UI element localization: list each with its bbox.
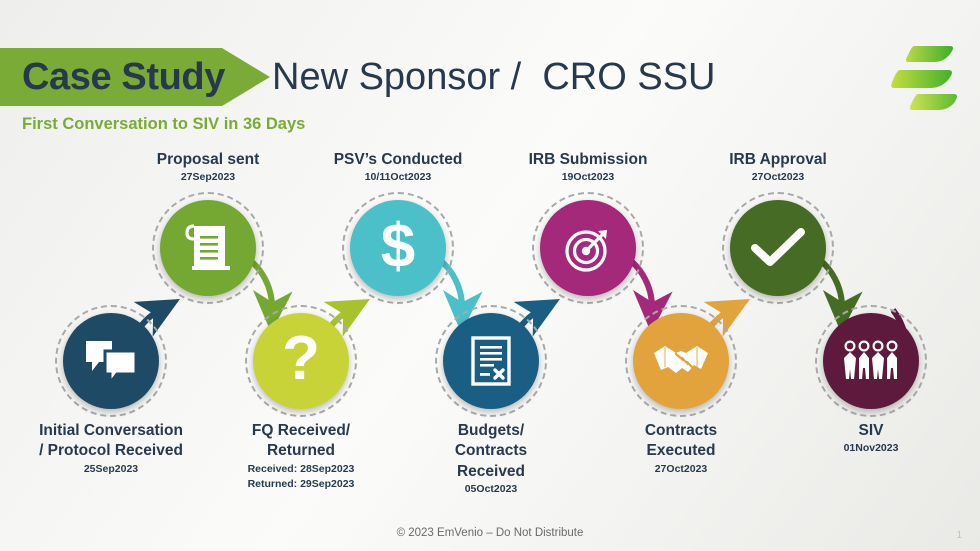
- footer-copyright: © 2023 EmVenio – Do Not Distribute: [0, 527, 980, 539]
- node-disc: [540, 200, 636, 296]
- step-title-line1: Initial Conversation: [6, 421, 216, 441]
- node-disc: [730, 200, 826, 296]
- timeline-node-proposal-sent[interactable]: [152, 192, 264, 304]
- timeline-node-fq-received-returned[interactable]: ?: [245, 305, 357, 417]
- step-title-line2: Returned: [211, 441, 391, 461]
- speech-bubbles-icon: [83, 338, 139, 384]
- step-title-line1: Contracts: [601, 421, 761, 441]
- step-title-line1: FQ Received/: [211, 421, 391, 441]
- step-date: 27Oct2023: [601, 463, 761, 477]
- label-proposal-sent: Proposal sent 27Sep2023: [118, 150, 298, 185]
- step-date: 25Sep2023: [6, 463, 216, 477]
- node-disc: [823, 313, 919, 409]
- step-date: 27Sep2023: [118, 171, 298, 185]
- question-mark-icon: ?: [282, 328, 320, 390]
- step-title-line1: SIV: [791, 421, 951, 441]
- people-group-icon: [842, 339, 900, 383]
- node-disc: [63, 313, 159, 409]
- label-psv-conducted: PSV’s Conducted 10/11Oct2023: [298, 150, 498, 185]
- step-title-line2: Contracts: [411, 441, 571, 461]
- timeline-node-contracts-executed[interactable]: [625, 305, 737, 417]
- target-arrow-icon: [562, 222, 614, 274]
- timeline-node-irb-submission[interactable]: [532, 192, 644, 304]
- step-date-received: Received: 28Sep2023: [211, 463, 391, 477]
- step-date: 05Oct2023: [411, 483, 571, 497]
- step-title-line2: / Protocol Received: [6, 441, 216, 461]
- slide-canvas: Case Study New Sponsor / CRO SSU First C…: [0, 0, 980, 551]
- step-title-line1: Budgets/: [411, 421, 571, 441]
- step-date: 01Nov2023: [791, 442, 951, 456]
- label-fq-received-returned: FQ Received/ Returned Received: 28Sep202…: [211, 421, 391, 492]
- step-title-line1: IRB Approval: [688, 150, 868, 170]
- label-irb-approval: IRB Approval 27Oct2023: [688, 150, 868, 185]
- node-disc: $: [350, 200, 446, 296]
- step-date: 10/11Oct2023: [298, 171, 498, 185]
- dollar-sign-icon: $: [381, 216, 415, 278]
- timeline-node-irb-approval[interactable]: [722, 192, 834, 304]
- label-siv: SIV 01Nov2023: [791, 421, 951, 456]
- contract-document-icon: [469, 335, 513, 387]
- node-disc: [160, 200, 256, 296]
- step-date: 27Oct2023: [688, 171, 868, 185]
- node-disc: ?: [253, 313, 349, 409]
- node-disc: [633, 313, 729, 409]
- step-title-line1: Proposal sent: [118, 150, 298, 170]
- label-budgets-contracts-received: Budgets/ Contracts Received 05Oct2023: [411, 421, 571, 497]
- label-initial-conversation: Initial Conversation / Protocol Received…: [6, 421, 216, 477]
- page-number: 1: [956, 530, 962, 541]
- step-title-line2: Executed: [601, 441, 761, 461]
- label-contracts-executed: Contracts Executed 27Oct2023: [601, 421, 761, 477]
- timeline-node-psv-conducted[interactable]: $: [342, 192, 454, 304]
- step-title-line1: IRB Submission: [498, 150, 678, 170]
- step-date-returned: Returned: 29Sep2023: [211, 478, 391, 492]
- step-date: 19Oct2023: [498, 171, 678, 185]
- node-disc: [443, 313, 539, 409]
- handshake-icon: [652, 341, 710, 381]
- checkmark-icon: [750, 227, 806, 269]
- timeline-node-initial-conversation[interactable]: [55, 305, 167, 417]
- step-title-line1: PSV’s Conducted: [298, 150, 498, 170]
- timeline-node-siv[interactable]: [815, 305, 927, 417]
- step-title-line3: Received: [411, 462, 571, 482]
- label-irb-submission: IRB Submission 19Oct2023: [498, 150, 678, 185]
- scroll-document-icon: [183, 222, 233, 274]
- timeline-node-budgets-contracts-received[interactable]: [435, 305, 547, 417]
